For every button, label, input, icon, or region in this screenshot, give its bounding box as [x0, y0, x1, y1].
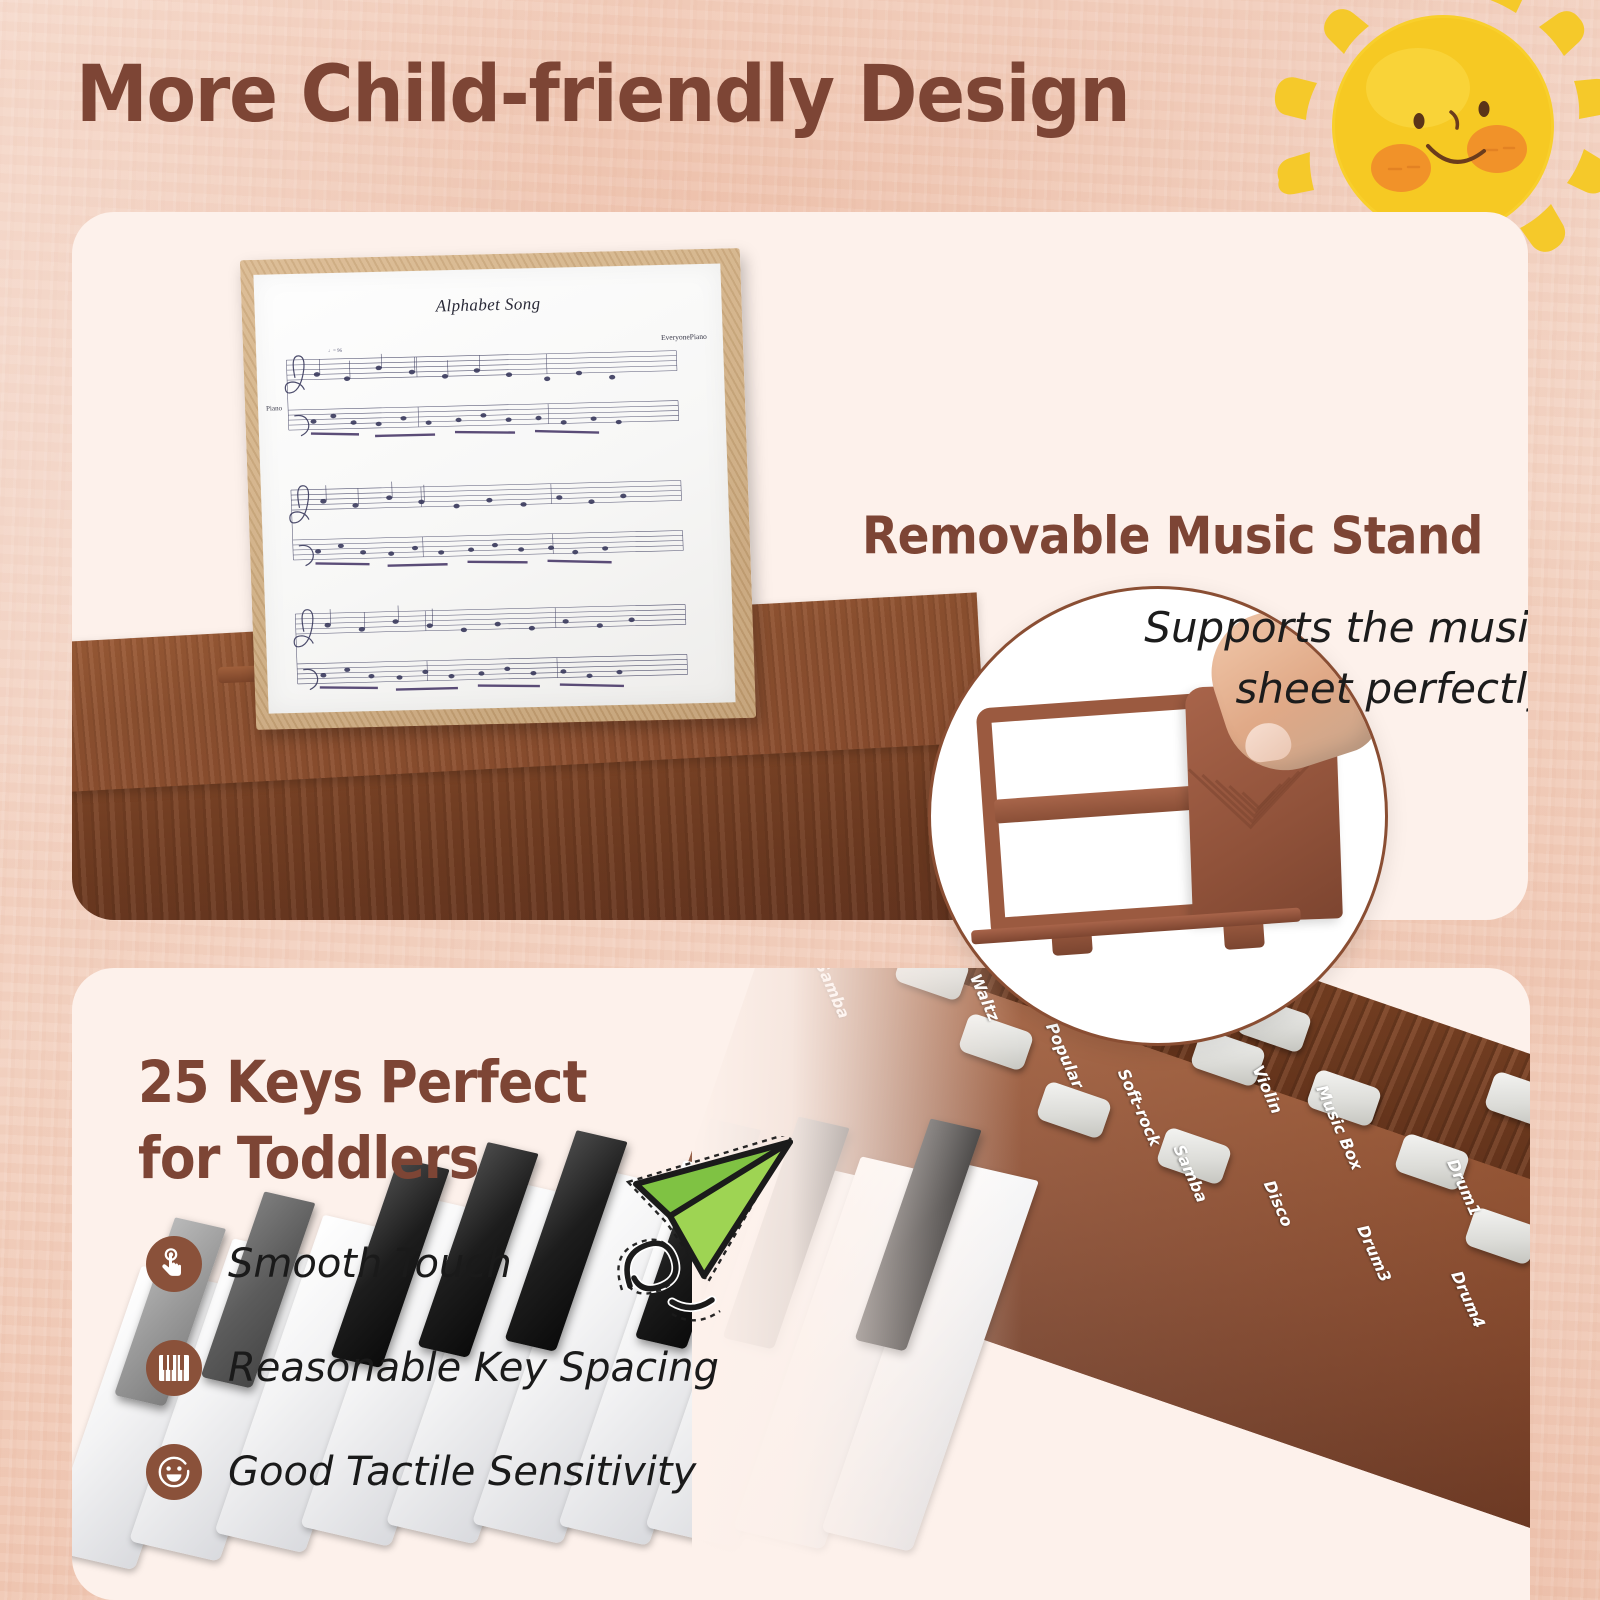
feature-label: Good Tactile Sensitivity: [228, 1449, 696, 1495]
music-stand-subtext-line2: sheet perfectly: [952, 659, 1528, 720]
feature-tactile-sensitivity: Good Tactile Sensitivity: [146, 1444, 696, 1500]
music-stand-subtext-line1: Supports the music: [952, 598, 1528, 659]
paper-plane-doodle: [608, 1136, 818, 1336]
feature-label: Reasonable Key Spacing: [228, 1345, 719, 1391]
piano-keys-icon: [146, 1340, 202, 1396]
keys-heading-line2: for Toddlers: [138, 1122, 587, 1198]
feature-key-spacing: Reasonable Key Spacing: [146, 1340, 719, 1396]
removable-music-stand-heading: Removable Music Stand: [862, 506, 1528, 567]
keys-heading-line1: 25 Keys Perfect: [138, 1046, 587, 1122]
feature-smooth-touch: Smooth Touch: [146, 1236, 512, 1292]
music-stand-photo: Alphabet Song EveryonePiano Piano: [72, 212, 952, 920]
page-title: More Child-friendly Design: [76, 48, 1130, 140]
keys-heading: 25 Keys Perfect for Toddlers: [138, 1046, 587, 1197]
feature-label: Smooth Touch: [228, 1241, 512, 1287]
sheet-music: Alphabet Song EveryonePiano Piano: [240, 248, 756, 730]
music-stand-subtext: Supports the music sheet perfectly: [952, 598, 1528, 720]
svg-text:♩= 96: ♩= 96: [328, 349, 343, 354]
smiley-face-icon: [146, 1444, 202, 1500]
touch-hand-icon: [146, 1236, 202, 1292]
